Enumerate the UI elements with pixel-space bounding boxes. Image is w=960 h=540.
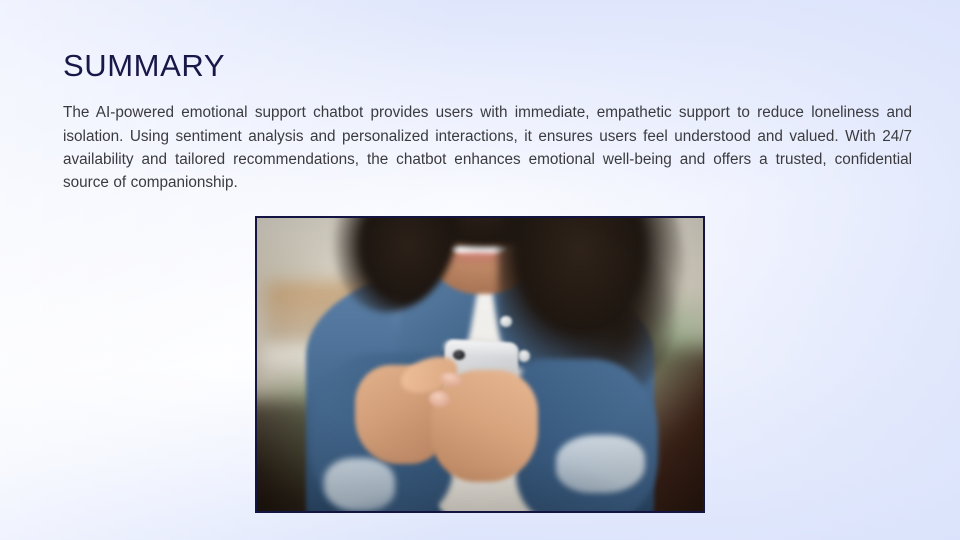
slide-content: SUMMARY The AI-powered emotional support… — [0, 0, 960, 540]
photo-smartphone-camera-lens — [453, 350, 465, 360]
photo-frame — [255, 216, 705, 513]
photo-hand-right — [431, 370, 538, 481]
page-title: SUMMARY — [63, 47, 225, 84]
photo-sleeve-cuff-right — [556, 435, 645, 494]
summary-paragraph: The AI-powered emotional support chatbot… — [63, 101, 912, 194]
photo-jacket-button-lower — [518, 350, 530, 362]
photo-sleeve-cuff-left — [324, 458, 395, 511]
photo-woman-using-smartphone — [257, 218, 703, 511]
slide: SUMMARY The AI-powered emotional support… — [0, 0, 960, 540]
photo-jacket-button-upper — [500, 316, 512, 327]
